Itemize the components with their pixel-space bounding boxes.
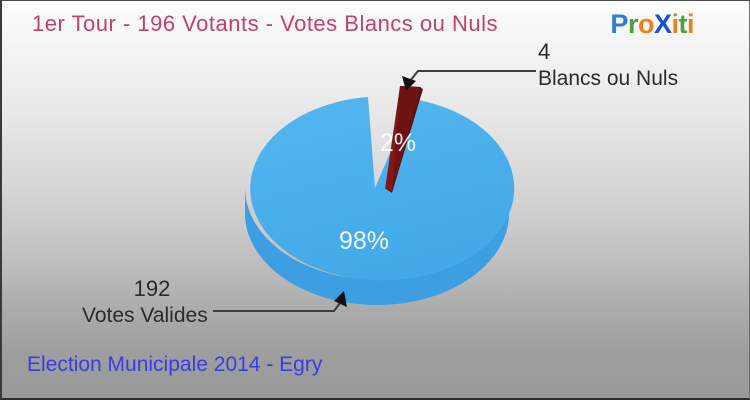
callout-valides-value: 192 bbox=[82, 276, 222, 302]
callout-blancs-ou-nuls: 4 Blancs ou Nuls bbox=[538, 39, 678, 93]
callout-blancs-caption: Blancs ou Nuls bbox=[538, 65, 678, 93]
callout-votes-valides: 192 Votes Valides bbox=[82, 276, 222, 330]
leader-line-blancs-ou-nuls bbox=[402, 71, 536, 91]
pie-label-98-percent: 98% bbox=[339, 227, 389, 255]
pie-chart-figure: 1er Tour - 196 Votants - Votes Blancs ou… bbox=[0, 0, 750, 400]
pie-label-2-percent: 2% bbox=[380, 129, 416, 157]
chart-subtitle: Election Municipale 2014 - Egry bbox=[27, 353, 322, 377]
callout-valides-caption: Votes Valides bbox=[82, 302, 222, 330]
callout-blancs-value: 4 bbox=[538, 39, 678, 65]
